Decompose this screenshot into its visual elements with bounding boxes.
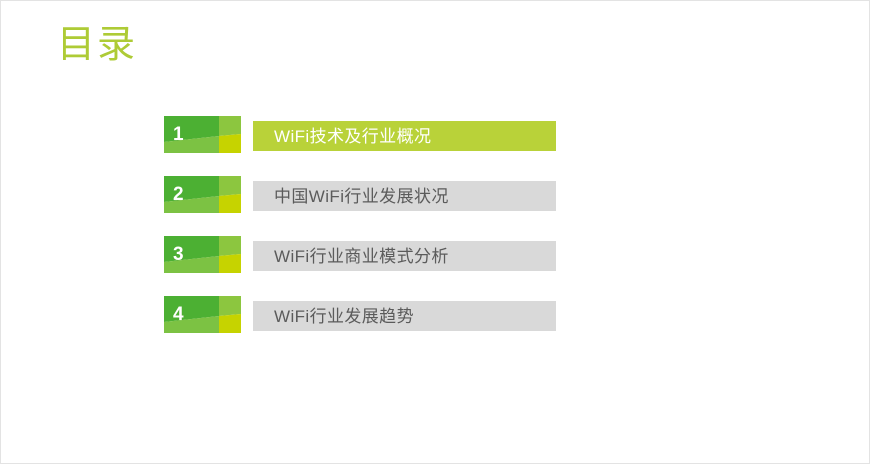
toc-number-chip-1: 1 (164, 116, 241, 153)
page-title: 目录 (57, 19, 137, 71)
toc-number-chip-4: 4 (164, 296, 241, 333)
toc-label-3: WiFi行业商业模式分析 (274, 241, 449, 271)
toc-item-3[interactable]: 3 WiFi行业商业模式分析 (164, 236, 564, 273)
toc-item-2[interactable]: 2 中国WiFi行业发展状况 (164, 176, 564, 213)
toc-list: 1 WiFi技术及行业概况 2 中国WiFi行业发展状况 (164, 116, 564, 333)
toc-number-chip-2: 2 (164, 176, 241, 213)
slide-canvas: 目录 1 WiFi技术及行业概况 (0, 0, 870, 464)
toc-label-bar-3[interactable]: WiFi行业商业模式分析 (253, 241, 556, 271)
toc-number-3: 3 (173, 236, 184, 273)
toc-label-2: 中国WiFi行业发展状况 (274, 181, 449, 211)
toc-number-1: 1 (173, 116, 184, 153)
toc-label-4: WiFi行业发展趋势 (274, 301, 414, 331)
toc-label-1: WiFi技术及行业概况 (274, 121, 431, 151)
toc-label-bar-1[interactable]: WiFi技术及行业概况 (253, 121, 556, 151)
toc-number-chip-3: 3 (164, 236, 241, 273)
toc-number-2: 2 (173, 176, 184, 213)
toc-label-bar-4[interactable]: WiFi行业发展趋势 (253, 301, 556, 331)
toc-number-4: 4 (173, 296, 184, 333)
toc-item-4[interactable]: 4 WiFi行业发展趋势 (164, 296, 564, 333)
toc-item-1[interactable]: 1 WiFi技术及行业概况 (164, 116, 564, 153)
toc-label-bar-2[interactable]: 中国WiFi行业发展状况 (253, 181, 556, 211)
